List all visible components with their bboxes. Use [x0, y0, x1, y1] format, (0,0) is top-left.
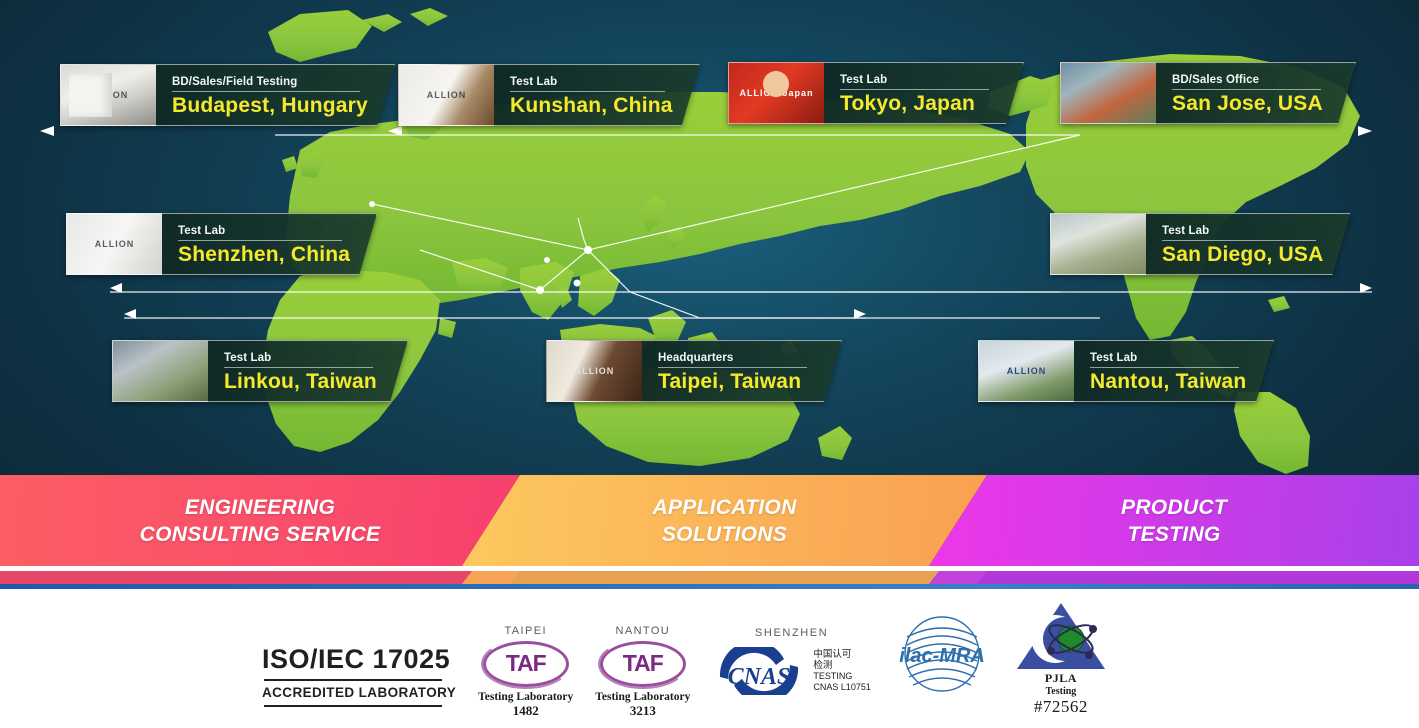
allion-logo-icon: ALLION: [67, 239, 162, 249]
location-info-budapest: BD/Sales/Field Testing Budapest, Hungary: [156, 64, 395, 126]
location-card-san-jose[interactable]: BD/Sales Office San Jose, USA: [1060, 62, 1356, 124]
divider: [1090, 367, 1239, 368]
cnas-city-label: SHENZHEN: [755, 627, 828, 639]
location-role: Test Lab: [840, 74, 887, 89]
location-thumbnail-kunshan: ALLION: [398, 64, 494, 126]
location-card-nantou[interactable]: ALLION Test Lab Nantou, Taiwan: [978, 340, 1274, 402]
ilac-mra-logo-icon: ilac-MRA: [893, 615, 991, 693]
cnas-text-block: 中国认可 检测 TESTING CNAS L10751: [813, 649, 871, 693]
iso-subtitle: ACCREDITED LABORATORY: [262, 685, 456, 700]
location-card-kunshan[interactable]: ALLION Test Lab Kunshan, China: [398, 64, 700, 126]
location-card-taipei[interactable]: ALLION Headquarters Taipei, Taiwan: [546, 340, 842, 402]
service-ribbon: ENGINEERING CONSULTING SERVICE APPLICATI…: [0, 475, 1419, 566]
service-label: PRODUCT TESTING: [1121, 494, 1227, 548]
location-role: Test Lab: [510, 76, 557, 91]
location-info-nantou: Test Lab Nantou, Taiwan: [1074, 340, 1274, 402]
divider: [1172, 89, 1321, 90]
location-thumbnail-linkou: [112, 340, 208, 402]
location-name: Linkou, Taiwan: [224, 370, 381, 394]
taf-line-2: 1482: [513, 703, 539, 719]
taf-line-1: Testing Laboratory: [478, 691, 573, 703]
location-name: Nantou, Taiwan: [1090, 370, 1247, 394]
location-role: Headquarters: [658, 352, 733, 367]
allion-logo-icon: ALLION Japan: [729, 88, 824, 98]
taf-line-1: Testing Laboratory: [595, 691, 690, 703]
cnas-line-4: CNAS L10751: [813, 682, 871, 693]
certification-ilac-mra: ilac-MRA: [893, 615, 991, 719]
certification-taf-taipei: TAIPEI TAF Testing Laboratory 1482: [478, 625, 573, 719]
certification-pjla: PJLA Testing #72562: [1013, 599, 1109, 719]
location-role: Test Lab: [1090, 352, 1137, 367]
location-thumbnail-taipei: ALLION: [546, 340, 642, 402]
certification-iso-17025: ISO/IEC 17025 ACCREDITED LABORATORY: [262, 644, 456, 719]
location-name: Tokyo, Japan: [840, 92, 997, 116]
location-role: BD/Sales/Field Testing: [172, 76, 297, 91]
location-thumbnail-san-jose: [1060, 62, 1156, 124]
location-info-linkou: Test Lab Linkou, Taiwan: [208, 340, 408, 402]
pjla-subtitle: Testing: [1046, 686, 1077, 697]
ilac-mark-text: ilac-MRA: [899, 645, 985, 667]
divider: [264, 705, 442, 707]
divider: [264, 679, 442, 681]
location-name: Budapest, Hungary: [172, 94, 368, 118]
svg-text:CNAS: CNAS: [728, 664, 791, 690]
location-info-san-diego: Test Lab San Diego, USA: [1146, 213, 1351, 275]
allion-global-locations-infographic: ALLION BD/Sales/Field Testing Budapest, …: [0, 0, 1419, 728]
taf-line-2: 3213: [630, 703, 656, 719]
allion-logo-icon: ALLION: [399, 90, 494, 100]
certification-cnas: SHENZHEN CNAS 中国认可 检测 TESTING CNAS L1075: [712, 627, 871, 719]
location-card-budapest[interactable]: ALLION BD/Sales/Field Testing Budapest, …: [60, 64, 395, 126]
divider: [172, 91, 360, 92]
allion-logo-icon: ALLION: [547, 366, 642, 376]
location-info-san-jose: BD/Sales Office San Jose, USA: [1156, 62, 1356, 124]
location-name: Shenzhen, China: [178, 243, 350, 267]
location-card-san-diego[interactable]: Test Lab San Diego, USA: [1050, 213, 1351, 275]
pjla-number: #72562: [1034, 697, 1088, 717]
location-name: San Jose, USA: [1172, 92, 1329, 116]
strip-product: [929, 571, 1419, 584]
certification-taf-nantou: NANTOU TAF Testing Laboratory 3213: [595, 625, 690, 719]
location-name: Kunshan, China: [510, 94, 673, 118]
world-map: ALLION BD/Sales/Field Testing Budapest, …: [0, 0, 1419, 475]
divider: [840, 89, 989, 90]
location-info-taipei: Headquarters Taipei, Taiwan: [642, 340, 842, 402]
strip-engineering: [0, 571, 520, 584]
location-info-tokyo: Test Lab Tokyo, Japan: [824, 62, 1024, 124]
location-card-tokyo[interactable]: ALLION Japan Test Lab Tokyo, Japan: [728, 62, 1024, 124]
ribbon-reflection-strip: [0, 571, 1419, 584]
cnas-line-3: TESTING: [813, 671, 871, 682]
location-role: Test Lab: [1162, 225, 1209, 240]
location-card-shenzhen[interactable]: ALLION Test Lab Shenzhen, China: [66, 213, 377, 275]
certification-bar: ISO/IEC 17025 ACCREDITED LABORATORY TAIP…: [0, 589, 1419, 728]
service-label: ENGINEERING CONSULTING SERVICE: [140, 494, 381, 548]
taf-logo-icon: TAF: [483, 641, 569, 687]
divider: [510, 91, 665, 92]
taf-city-label: TAIPEI: [504, 625, 546, 637]
divider: [178, 240, 342, 241]
location-card-linkou[interactable]: Test Lab Linkou, Taiwan: [112, 340, 408, 402]
cnas-line-2: 检测: [813, 660, 871, 671]
divider: [658, 367, 807, 368]
location-info-kunshan: Test Lab Kunshan, China: [494, 64, 700, 126]
service-label: APPLICATION SOLUTIONS: [652, 494, 796, 548]
location-info-shenzhen: Test Lab Shenzhen, China: [162, 213, 377, 275]
location-thumbnail-budapest: ALLION: [60, 64, 156, 126]
location-name: San Diego, USA: [1162, 243, 1324, 267]
taf-mark-text: TAF: [623, 650, 663, 677]
iso-title: ISO/IEC 17025: [262, 644, 450, 675]
cnas-logo-icon: CNAS: [712, 647, 806, 695]
allion-logo-icon: ALLION: [979, 366, 1074, 376]
location-name: Taipei, Taiwan: [658, 370, 815, 394]
location-thumbnail-san-diego: [1050, 213, 1146, 275]
location-role: Test Lab: [224, 352, 271, 367]
location-thumbnail-tokyo: ALLION Japan: [728, 62, 824, 124]
service-segment-application[interactable]: APPLICATION SOLUTIONS: [462, 475, 987, 566]
strip-application: [462, 571, 987, 584]
pjla-logo-icon: [1013, 599, 1109, 673]
location-role: BD/Sales Office: [1172, 74, 1259, 89]
service-segment-product[interactable]: PRODUCT TESTING: [929, 475, 1419, 566]
location-role: Test Lab: [178, 225, 225, 240]
location-thumbnail-shenzhen: ALLION: [66, 213, 162, 275]
cnas-line-1: 中国认可: [813, 649, 871, 660]
taf-logo-icon: TAF: [600, 641, 686, 687]
location-thumbnail-nantou: ALLION: [978, 340, 1074, 402]
divider: [224, 367, 373, 368]
service-segment-engineering[interactable]: ENGINEERING CONSULTING SERVICE: [0, 475, 520, 566]
taf-mark-text: TAF: [506, 650, 546, 677]
allion-logo-icon: ALLION: [61, 90, 156, 100]
taf-city-label: NANTOU: [615, 625, 670, 637]
divider: [1162, 240, 1316, 241]
